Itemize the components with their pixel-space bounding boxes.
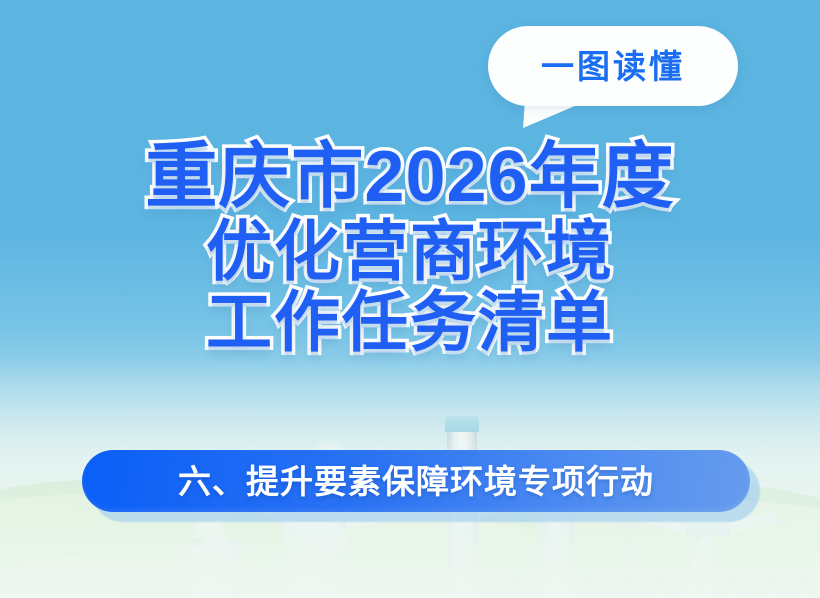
infographic-poster: 一图读懂 重庆市2026年度 优化营商环境 工作任务清单 六、提升要素保障环境专…: [0, 0, 820, 598]
section-banner-label: 六、提升要素保障环境专项行动: [178, 465, 654, 498]
read-at-a-glance-badge[interactable]: 一图读懂: [488, 26, 738, 106]
title-line-1: 重庆市2026年度: [0, 140, 820, 215]
title-line-3: 工作任务清单: [0, 288, 820, 357]
section-banner[interactable]: 六、提升要素保障环境专项行动: [82, 450, 750, 512]
page-title: 重庆市2026年度 优化营商环境 工作任务清单: [0, 140, 820, 356]
read-at-a-glance-label: 一图读懂: [541, 50, 685, 83]
section-banner-pill[interactable]: 六、提升要素保障环境专项行动: [82, 450, 750, 512]
smokestack-tall-cap: [445, 416, 479, 432]
title-line-2: 优化营商环境: [0, 217, 820, 286]
cooling-tower-small-rim: [180, 538, 246, 552]
